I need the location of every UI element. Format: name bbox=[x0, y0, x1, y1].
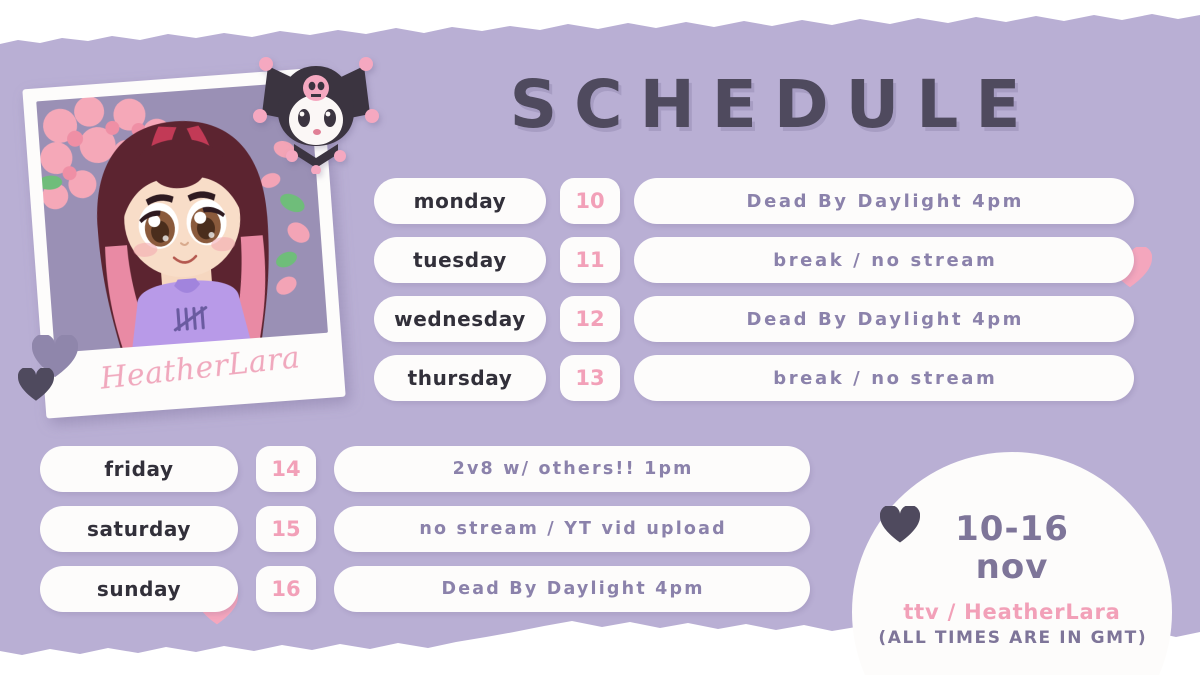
date-badge: 13 bbox=[560, 355, 620, 401]
event-label: 2v8 w/ others!! 1pm bbox=[334, 446, 810, 492]
date-range-line1: 10-16 bbox=[852, 510, 1172, 548]
event-label: no stream / YT vid upload bbox=[334, 506, 810, 552]
kuromi-character-icon bbox=[252, 52, 380, 174]
date-badge: 16 bbox=[256, 566, 316, 612]
day-label: sunday bbox=[40, 566, 238, 612]
date-badge: 10 bbox=[560, 178, 620, 224]
schedule-row: monday 10 Dead By Daylight 4pm bbox=[374, 178, 1134, 224]
timezone-note: (ALL TIMES ARE IN GMT) bbox=[852, 628, 1172, 648]
page-title: SCHEDULE bbox=[400, 72, 1130, 138]
schedule-graphic: HeatherLara bbox=[0, 0, 1200, 675]
day-label: friday bbox=[40, 446, 238, 492]
date-range-line2: nov bbox=[852, 548, 1172, 586]
day-label: monday bbox=[374, 178, 546, 224]
day-label: wednesday bbox=[374, 296, 546, 342]
date-badge: 15 bbox=[256, 506, 316, 552]
info-text-group: 10-16 nov ttv / HeatherLara (ALL TIMES A… bbox=[852, 452, 1172, 648]
schedule-row: saturday 15 no stream / YT vid upload bbox=[40, 506, 810, 552]
event-label: break / no stream bbox=[634, 237, 1134, 283]
event-label: Dead By Daylight 4pm bbox=[334, 566, 810, 612]
schedule-row: thursday 13 break / no stream bbox=[374, 355, 1134, 401]
day-label: saturday bbox=[40, 506, 238, 552]
event-label: Dead By Daylight 4pm bbox=[634, 178, 1134, 224]
date-range: 10-16 nov bbox=[852, 510, 1172, 586]
event-label: break / no stream bbox=[634, 355, 1134, 401]
event-label: Dead By Daylight 4pm bbox=[634, 296, 1134, 342]
channel-handle: ttv / HeatherLara bbox=[852, 600, 1172, 624]
day-label: thursday bbox=[374, 355, 546, 401]
schedule-rows-top: monday 10 Dead By Daylight 4pm tuesday 1… bbox=[374, 178, 1134, 414]
heart-icon bbox=[18, 368, 54, 402]
schedule-row: tuesday 11 break / no stream bbox=[374, 237, 1134, 283]
date-badge: 12 bbox=[560, 296, 620, 342]
schedule-row: sunday 16 Dead By Daylight 4pm bbox=[40, 566, 810, 612]
date-badge: 14 bbox=[256, 446, 316, 492]
date-badge: 11 bbox=[560, 237, 620, 283]
schedule-row: wednesday 12 Dead By Daylight 4pm bbox=[374, 296, 1134, 342]
schedule-rows-bottom: friday 14 2v8 w/ others!! 1pm saturday 1… bbox=[40, 446, 810, 626]
day-label: tuesday bbox=[374, 237, 546, 283]
schedule-row: friday 14 2v8 w/ others!! 1pm bbox=[40, 446, 810, 492]
